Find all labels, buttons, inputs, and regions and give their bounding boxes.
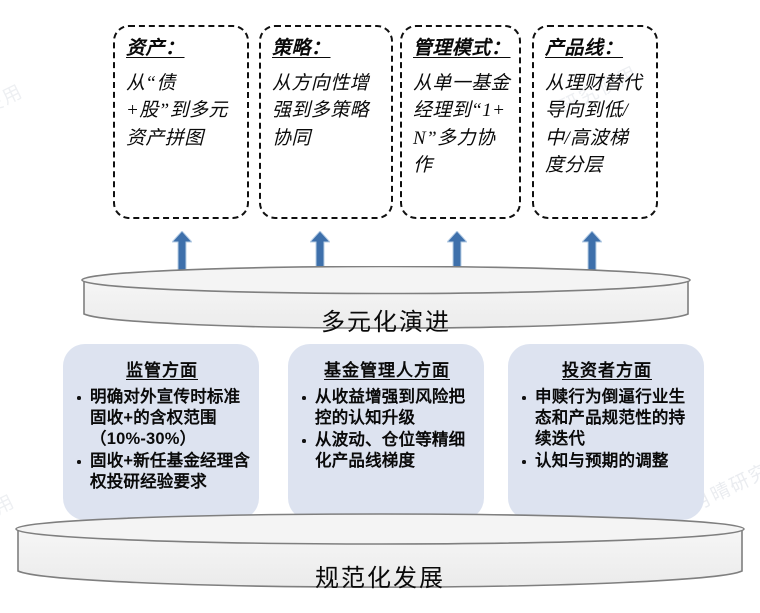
lower-cylinder-label: 规范化发展 (14, 558, 746, 593)
dashed-card-body: 从单一基金经理到“1+N”多力协作 (413, 70, 510, 180)
dashed-card-body: 从“债+股”到多元资产拼图 (126, 70, 238, 153)
info-card-investor: 投资者方面 申赎行为倒逼行业生态和产品规范性的持续迭代 认知与预期的调整 (508, 344, 704, 520)
dashed-card-body: 从方向性增强到多策略协同 (272, 70, 382, 153)
bullet-item: 明确对外宣传时标准固收+的含权范围（10%-30%） (73, 387, 251, 450)
info-card-fund-manager: 基金管理人方面 从收益增强到风险把控的认知升级 从波动、仓位等精细化产品线梯度 (288, 344, 484, 520)
info-card-bullet-list: 申赎行为倒逼行业生态和产品规范性的持续迭代 认知与预期的调整 (518, 387, 696, 472)
info-card-regulation: 监管方面 明确对外宣传时标准固收+的含权范围（10%-30%） 固收+新任基金经… (63, 344, 259, 520)
bullet-item: 固收+新任基金经理含权投研经验要求 (73, 451, 251, 493)
dashed-card-body: 从理财替代导向到低/中/高波梯度分层 (545, 70, 647, 180)
info-card-bullet-list: 从收益增强到风险把控的认知升级 从波动、仓位等精细化产品线梯度 (298, 387, 476, 472)
dashed-card-title: 资产： (126, 37, 238, 61)
dashed-card-title: 策略： (272, 37, 382, 61)
upper-cylinder: 多元化演进 (80, 266, 692, 342)
info-card-bullet-list: 明确对外宣传时标准固收+的含权范围（10%-30%） 固收+新任基金经理含权投研… (73, 387, 251, 494)
info-card-title: 基金管理人方面 (298, 356, 476, 381)
upper-cylinder-label: 多元化演进 (80, 302, 692, 337)
bullet-item: 认知与预期的调整 (518, 451, 696, 472)
dashed-card-strategy: 策略： 从方向性增强到多策略协同 (259, 25, 393, 219)
watermark: 使用 (0, 77, 28, 120)
dashed-card-product-line: 产品线： 从理财替代导向到低/中/高波梯度分层 (532, 25, 658, 219)
dashed-card-management-mode: 管理模式： 从单一基金经理到“1+N”多力协作 (400, 25, 521, 219)
dashed-card-title: 管理模式： (413, 37, 510, 61)
bullet-item: 从波动、仓位等精细化产品线梯度 (298, 430, 476, 472)
dashed-card-title: 产品线： (545, 37, 647, 61)
info-card-title: 监管方面 (73, 356, 251, 381)
bullet-item: 申赎行为倒逼行业生态和产品规范性的持续迭代 (518, 387, 696, 450)
dashed-card-assets: 资产： 从“债+股”到多元资产拼图 (113, 25, 249, 219)
info-card-title: 投资者方面 (518, 356, 696, 381)
lower-cylinder: 规范化发展 (14, 513, 746, 601)
bullet-item: 从收益增强到风险把控的认知升级 (298, 387, 476, 429)
diagram-canvas: 使用 使用 研究使用 研究使用 研究使用 仅供匡月晴研究使用 资产： 从“债+股… (0, 0, 760, 613)
